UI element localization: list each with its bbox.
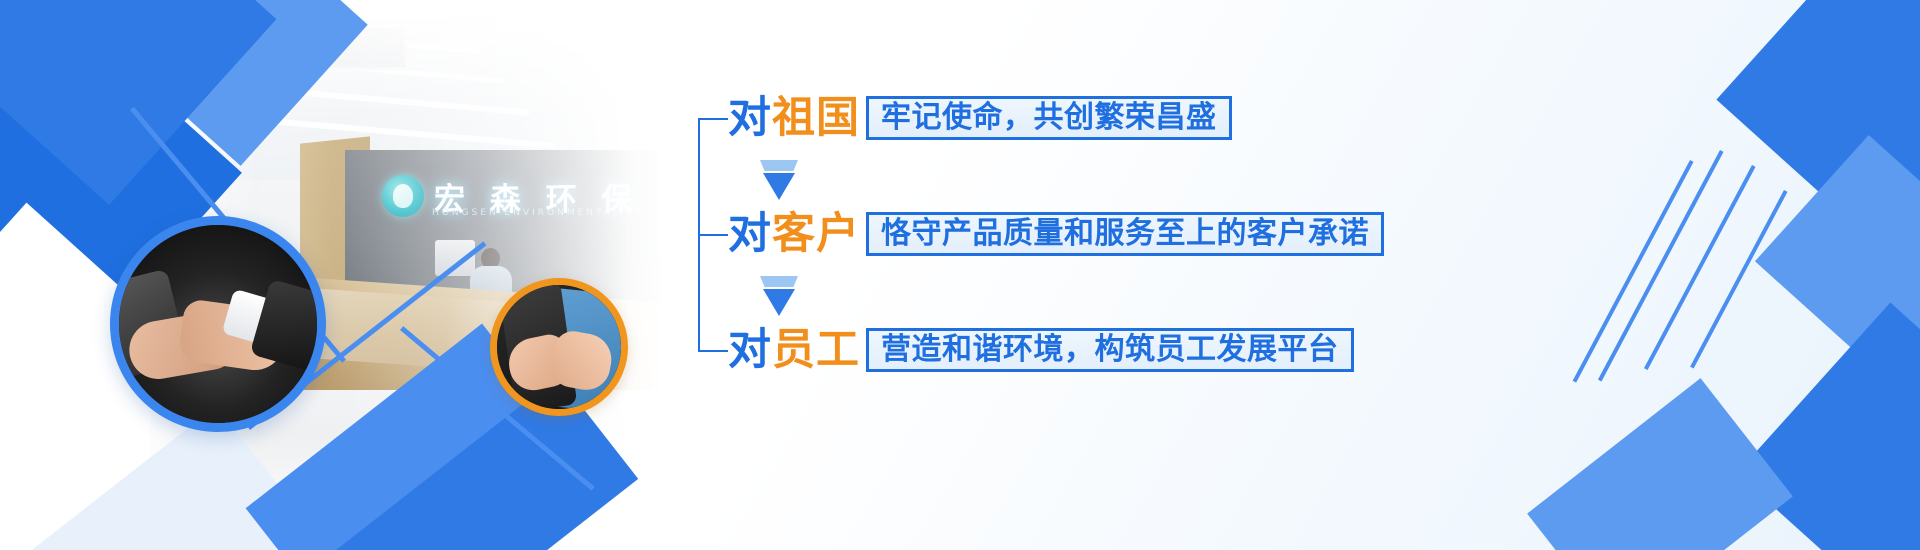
lead-prefix: 对: [728, 93, 772, 143]
lead-target: 员工: [772, 325, 860, 375]
arrow-cap: [760, 276, 798, 287]
value-row-customer: 对客户 恪守产品质量和服务至上的客户承诺: [660, 206, 1384, 262]
photo-collage: 宏 森 环 保 HONGSEN ENVIRONMENTAL PROTECTION: [0, 0, 660, 550]
value-statement-chip-country: 牢记使命，共创繁荣昌盛: [866, 96, 1232, 140]
arrow-cap: [760, 160, 798, 171]
lead-prefix: 对: [728, 209, 772, 259]
value-row-country: 对祖国 牢记使命，共创繁荣昌盛: [660, 90, 1232, 146]
value-lead-employee: 对员工: [728, 329, 860, 372]
value-statement-chip-employee: 营造和谐环境，构筑员工发展平台: [866, 328, 1354, 372]
lead-target: 客户: [772, 209, 860, 259]
down-arrow-icon: [760, 160, 798, 200]
value-statement-chip-customer: 恪守产品质量和服务至上的客户承诺: [866, 212, 1384, 256]
values-list: 对祖国 牢记使命，共创繁荣昌盛 对客户 恪守产品质量和服务至上的客户承诺: [660, 0, 1920, 550]
arrow-body: [763, 173, 795, 200]
value-statement-text: 牢记使命，共创繁荣昌盛: [881, 103, 1217, 133]
handshake-circle-photo: [110, 216, 326, 432]
value-lead-customer: 对客户: [728, 213, 860, 256]
value-statement-text: 恪守产品质量和服务至上的客户承诺: [881, 219, 1369, 249]
applause-circle-photo: [490, 278, 628, 416]
lead-target: 祖国: [772, 93, 860, 143]
value-lead-country: 对祖国: [728, 97, 860, 140]
company-values-banner: 宏 森 环 保 HONGSEN ENVIRONMENTAL PROTECTION: [0, 0, 1920, 550]
lead-prefix: 对: [728, 325, 772, 375]
down-arrow-icon: [760, 276, 798, 316]
value-row-employee: 对员工 营造和谐环境，构筑员工发展平台: [660, 322, 1354, 378]
arrow-body: [763, 289, 795, 316]
value-statement-text: 营造和谐环境，构筑员工发展平台: [881, 335, 1339, 365]
